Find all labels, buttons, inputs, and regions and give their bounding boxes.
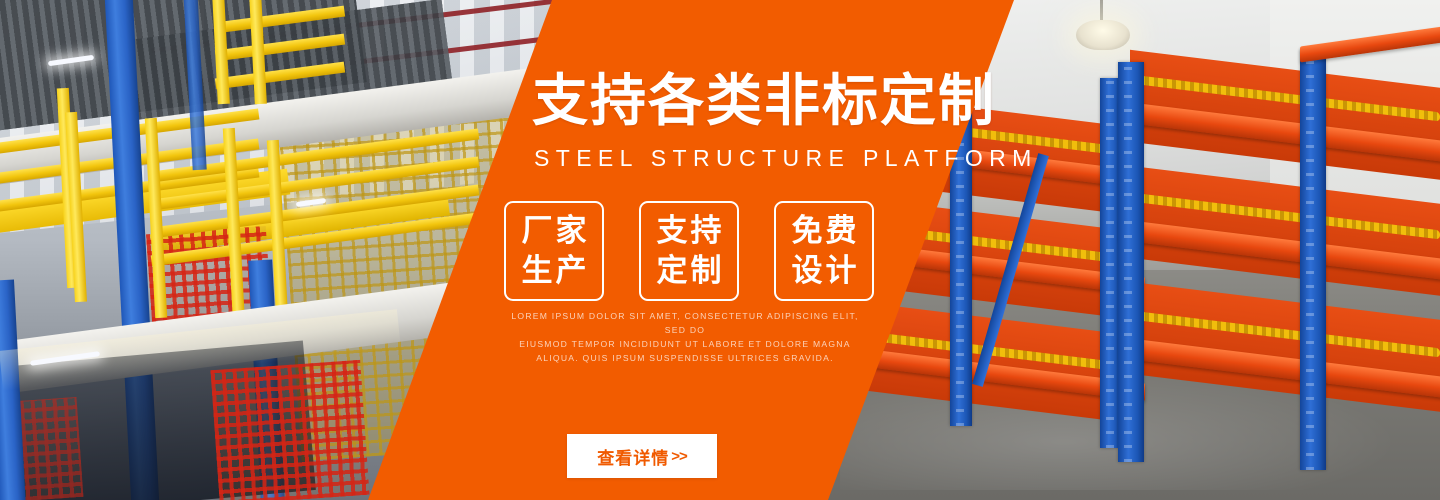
banner-subheadline: STEEL STRUCTURE PLATFORM bbox=[534, 145, 1038, 172]
cta-label: 查看详情 bbox=[597, 444, 669, 469]
feature-badge-group: 厂家 生产 支持 定制 免费 设计 bbox=[504, 201, 874, 301]
badge-line-2: 生产 bbox=[519, 251, 590, 291]
badge-line-1: 免费 bbox=[789, 211, 860, 251]
description-line-1: LOREM IPSUM DOLOR SIT AMET, CONSECTETUR … bbox=[505, 310, 865, 338]
description-line-2: EIUSMOD TEMPOR INCIDIDUNT UT LABORE ET D… bbox=[505, 338, 865, 352]
badge-line-2: 设计 bbox=[789, 251, 860, 291]
promo-banner: 支持各类非标定制 STEEL STRUCTURE PLATFORM 厂家 生产 … bbox=[0, 0, 1440, 500]
badge-line-1: 支持 bbox=[654, 211, 725, 251]
feature-badge-free-design[interactable]: 免费 设计 bbox=[774, 201, 874, 301]
badge-line-2: 定制 bbox=[654, 251, 725, 291]
feature-badge-custom-support[interactable]: 支持 定制 bbox=[639, 201, 739, 301]
description-line-3: ALIQUA. QUIS IPSUM SUSPENDISSE ULTRICES … bbox=[505, 352, 865, 366]
banner-description: LOREM IPSUM DOLOR SIT AMET, CONSECTETUR … bbox=[505, 310, 865, 366]
chevron-right-icon: >> bbox=[671, 448, 687, 465]
view-details-button[interactable]: 查看详情 >> bbox=[567, 434, 717, 478]
badge-line-1: 厂家 bbox=[519, 211, 590, 251]
banner-content: 支持各类非标定制 STEEL STRUCTURE PLATFORM 厂家 生产 … bbox=[0, 0, 1440, 500]
banner-headline: 支持各类非标定制 bbox=[532, 72, 996, 131]
feature-badge-factory-production[interactable]: 厂家 生产 bbox=[504, 201, 604, 301]
